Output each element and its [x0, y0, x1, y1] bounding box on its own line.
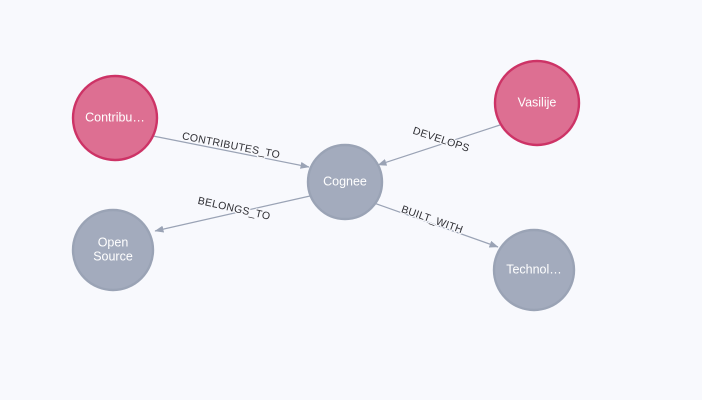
graph-edge-develops[interactable]: DEVELOPS [378, 125, 500, 165]
nodes-layer: Contribu…VasilijeCogneeOpenSourceTechnol… [73, 61, 579, 310]
graph-node-contributors[interactable]: Contribu… [73, 76, 157, 160]
graph-node-technology[interactable]: Technol… [494, 230, 574, 310]
graph-edge-built_with[interactable]: BUILT_WITH [374, 203, 498, 247]
edge-label: CONTRIBUTES_TO [181, 130, 281, 161]
graph-edge-belongs_to[interactable]: BELONGS_TO [155, 195, 310, 231]
edge-label: DEVELOPS [411, 125, 471, 155]
graph-node-cognee[interactable]: Cognee [308, 145, 382, 219]
graph-canvas[interactable]: CONTRIBUTES_TODEVELOPSBELONGS_TOBUILT_WI… [0, 0, 702, 400]
graph-node-vasilije[interactable]: Vasilije [495, 61, 579, 145]
node-label: Contribu… [85, 110, 145, 124]
node-label: Open [98, 235, 129, 249]
edge-label: BUILT_WITH [400, 203, 465, 236]
graph-node-open_source[interactable]: OpenSource [73, 210, 153, 290]
node-label: Source [93, 249, 133, 263]
node-label: Technol… [506, 262, 562, 276]
node-label: Cognee [323, 174, 367, 188]
node-label: Vasilije [518, 95, 557, 109]
graph-visualization[interactable]: CONTRIBUTES_TODEVELOPSBELONGS_TOBUILT_WI… [0, 0, 702, 400]
graph-edge-contributes_to[interactable]: CONTRIBUTES_TO [153, 130, 309, 167]
